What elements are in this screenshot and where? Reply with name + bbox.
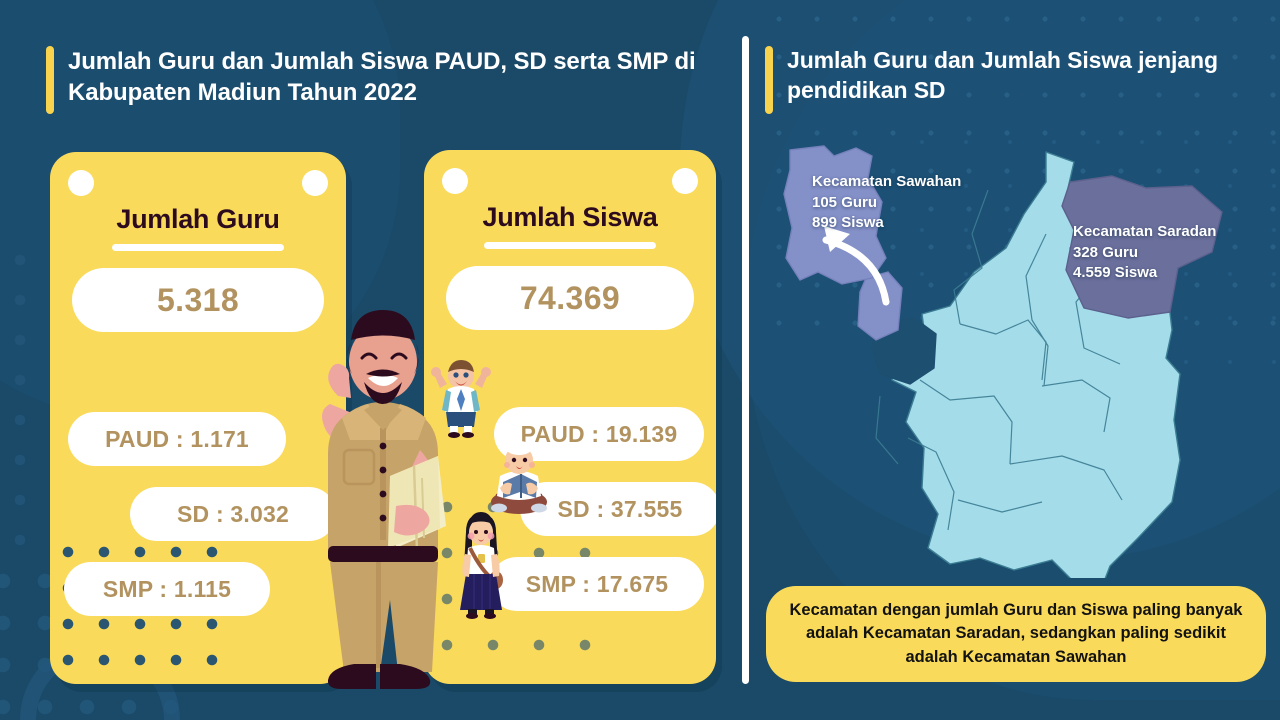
- map-label-saradan-district: Kecamatan Saradan: [1073, 222, 1216, 243]
- map-label-sawahan-teachers: 105 Guru: [812, 193, 961, 214]
- left-panel-title-text: Jumlah Guru dan Jumlah Siswa PAUD, SD se…: [68, 46, 706, 108]
- map-label-saradan-teachers: 328 Guru: [1073, 243, 1216, 264]
- map-caption: Kecamatan dengan jumlah Guru dan Siswa p…: [766, 586, 1266, 682]
- card-title-siswa: Jumlah Siswa: [424, 202, 716, 233]
- total-value-siswa: 74.369: [446, 266, 694, 330]
- map-label-sawahan-students: 899 Siswa: [812, 213, 961, 234]
- map-label-saradan: Kecamatan Saradan 328 Guru 4.559 Siswa: [1073, 222, 1216, 284]
- infographic-canvas: Jumlah Guru dan Jumlah Siswa PAUD, SD se…: [0, 0, 1280, 720]
- title-accent-bar: [765, 46, 773, 114]
- map-label-sawahan-district: Kecamatan Sawahan: [812, 172, 961, 193]
- card-corner-dot-left: [68, 170, 94, 196]
- title-accent-bar: [46, 46, 54, 114]
- stat-pill-guru-smp: SMP : 1.115: [64, 562, 270, 616]
- right-panel-title: Jumlah Guru dan Jumlah Siswa jenjang pen…: [765, 46, 1235, 114]
- stat-pill-guru-paud: PAUD : 1.171: [68, 412, 286, 466]
- panel-divider: [742, 36, 749, 684]
- right-panel-title-text: Jumlah Guru dan Jumlah Siswa jenjang pen…: [787, 46, 1235, 106]
- card-corner-dot-left: [442, 168, 468, 194]
- student-sd-illustration: [486, 440, 552, 516]
- map-label-sawahan: Kecamatan Sawahan 105 Guru 899 Siswa: [812, 172, 961, 234]
- student-smp-illustration: [452, 510, 510, 620]
- student-paud-illustration: [430, 358, 492, 438]
- card-corner-dot-right: [302, 170, 328, 196]
- card-underline: [112, 244, 284, 251]
- stat-pill-siswa-smp: SMP : 17.675: [490, 557, 704, 611]
- card-title-guru: Jumlah Guru: [50, 204, 346, 235]
- map-label-saradan-students: 4.559 Siswa: [1073, 263, 1216, 284]
- card-corner-dot-right: [672, 168, 698, 194]
- left-panel-title: Jumlah Guru dan Jumlah Siswa PAUD, SD se…: [46, 46, 706, 114]
- card-underline: [484, 242, 656, 249]
